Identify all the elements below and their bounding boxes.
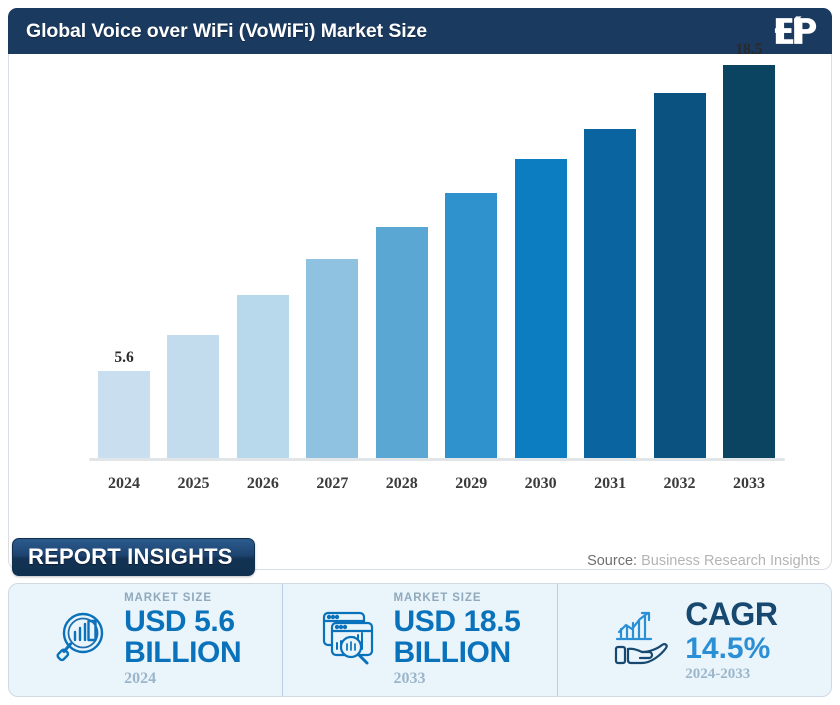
chart-plot-area: 5.6 <box>9 55 831 515</box>
bar-2032 <box>654 93 706 459</box>
source-line: Source: Business Research Insights <box>587 553 820 569</box>
insight-card-market-size-2024: MARKET SIZE USD 5.6 BILLION 2024 <box>9 584 283 696</box>
bar-group-2030 <box>512 55 570 459</box>
magnifier-bar-chart-icon <box>50 607 112 674</box>
x-axis-line <box>89 458 785 461</box>
x-tick-2033: 2033 <box>720 475 778 493</box>
bar-value-2024: 5.6 <box>79 349 169 367</box>
bar-group-2025 <box>164 55 222 459</box>
x-axis-tick-labels: 2024 2025 2026 2027 2028 2029 2030 2031 … <box>95 469 778 499</box>
bar-2033 <box>723 65 775 459</box>
bar-group-2032 <box>651 55 709 459</box>
insight-card-text: CAGR 14.5% 2024-2033 <box>685 598 777 682</box>
bar-group-2026 <box>234 55 292 459</box>
infographic-root: Global Voice over WiFi (VoWiFi) Market S… <box>0 0 840 705</box>
bar-2026 <box>237 295 289 459</box>
x-tick-2026: 2026 <box>234 475 292 493</box>
bar-2031 <box>584 129 636 459</box>
card-main-line1: USD 18.5 <box>394 607 521 638</box>
bar-2024 <box>98 371 150 459</box>
bar-2025 <box>167 335 219 459</box>
cagr-range: 2024-2033 <box>685 667 750 682</box>
bar-2030 <box>515 159 567 459</box>
card-eyebrow: MARKET SIZE <box>124 593 212 605</box>
card-sub-year: 2024 <box>124 671 156 687</box>
insight-cards-row: MARKET SIZE USD 5.6 BILLION 2024 <box>8 583 832 697</box>
cagr-title: CAGR <box>685 598 777 632</box>
bar-group-2029 <box>442 55 500 459</box>
bar-2029 <box>445 193 497 459</box>
card-sub-year: 2033 <box>394 671 426 687</box>
cagr-value: 14.5% <box>685 632 770 665</box>
x-tick-2031: 2031 <box>581 475 639 493</box>
bar-group-2033: 18.5 <box>720 55 778 459</box>
x-tick-2029: 2029 <box>442 475 500 493</box>
x-tick-2032: 2032 <box>651 475 709 493</box>
insight-card-cagr: CAGR 14.5% 2024-2033 <box>558 584 831 696</box>
insight-card-text: MARKET SIZE USD 18.5 BILLION 2033 <box>394 593 521 688</box>
bars-container: 5.6 <box>95 55 778 459</box>
hand-growth-chart-icon <box>611 607 673 674</box>
x-tick-2024: 2024 <box>95 475 153 493</box>
bar-2028 <box>376 227 428 459</box>
report-insights-label: REPORT INSIGHTS <box>28 544 233 570</box>
insight-card-market-size-2033: MARKET SIZE USD 18.5 BILLION 2033 <box>283 584 557 696</box>
report-insights-badge: REPORT INSIGHTS <box>12 538 255 576</box>
bar-2027 <box>306 259 358 459</box>
card-main-line2: BILLION <box>124 638 241 669</box>
card-eyebrow: MARKET SIZE <box>394 593 482 605</box>
insight-card-text: MARKET SIZE USD 5.6 BILLION 2024 <box>124 593 241 688</box>
bar-value-2033: 18.5 <box>704 41 794 59</box>
x-tick-2027: 2027 <box>303 475 361 493</box>
bar-group-2027 <box>303 55 361 459</box>
bar-group-2028 <box>373 55 431 459</box>
card-main-line2: BILLION <box>394 638 511 669</box>
bar-group-2024: 5.6 <box>95 55 153 459</box>
source-value: Business Research Insights <box>641 553 820 569</box>
source-label: Source: <box>587 553 637 569</box>
dashboard-window-magnifier-icon <box>320 607 382 674</box>
page-title: Global Voice over WiFi (VoWiFi) Market S… <box>26 20 427 43</box>
x-tick-2025: 2025 <box>164 475 222 493</box>
bar-group-2031 <box>581 55 639 459</box>
x-tick-2030: 2030 <box>512 475 570 493</box>
card-main-line1: USD 5.6 <box>124 607 235 638</box>
x-tick-2028: 2028 <box>373 475 431 493</box>
